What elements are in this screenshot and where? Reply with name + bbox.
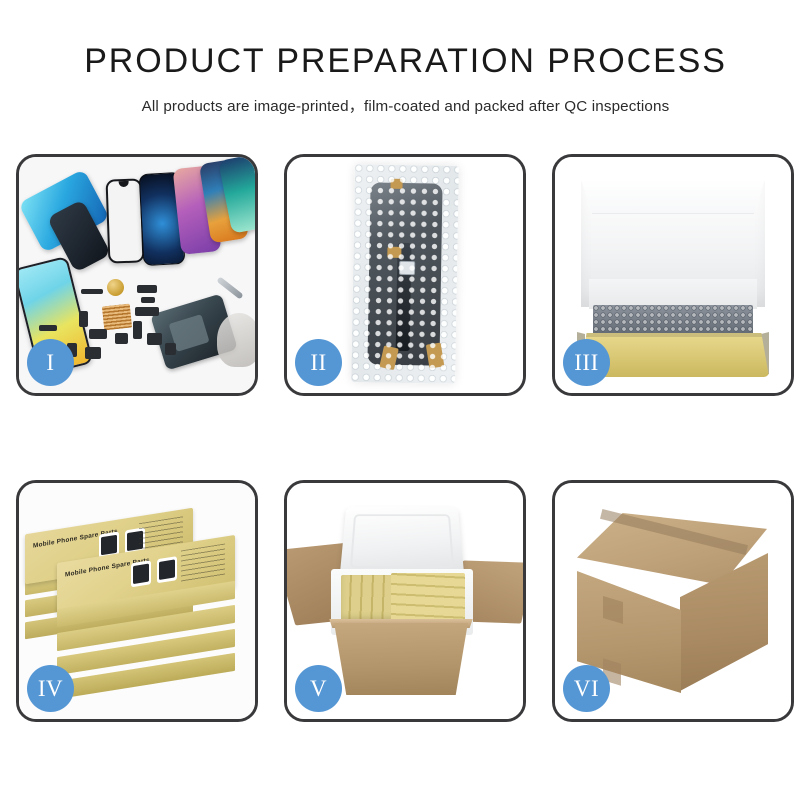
step-badge-5: V [295, 665, 342, 712]
page-title: PRODUCT PREPARATION PROCESS [0, 44, 811, 80]
gold-tab-bottom-left-icon [379, 345, 399, 370]
box-spec-text-front [181, 543, 225, 582]
step-badge-3: III [563, 339, 610, 386]
gold-component-icon [107, 279, 124, 296]
process-steps-grid: I II III [16, 154, 795, 722]
page-header: PRODUCT PREPARATION PROCESS All products… [0, 0, 811, 116]
step-badge-6: VI [563, 665, 610, 712]
part-module-icon [89, 329, 107, 339]
part-ribbon-icon [133, 321, 142, 339]
box-artwork-phone-3-icon [131, 560, 151, 587]
screen-flex-cable-icon [396, 243, 412, 351]
gold-tab-bottom-right-icon [426, 343, 445, 369]
process-step-panel-5[interactable]: V [284, 480, 526, 722]
carton-front-panel-icon [325, 623, 477, 695]
bubble-wrap-bag-icon [351, 164, 459, 384]
step-badge-1: I [27, 339, 74, 386]
copper-mesh-component-icon [102, 304, 132, 331]
step-badge-4: IV [27, 665, 74, 712]
part-gold-flex-icon [137, 285, 157, 293]
process-step-panel-4[interactable]: Mobile Phone Spare Parts Mobile Phone Sp… [16, 480, 258, 722]
part-gold-tab-icon [141, 297, 155, 303]
page-subtitle: All products are image-printed，film-coat… [0, 94, 811, 116]
part-small-board-icon [85, 347, 101, 359]
screen-chip-icon [399, 261, 415, 275]
gold-tab-top-icon [390, 179, 402, 189]
part-speaker-icon [147, 333, 162, 345]
part-camera-icon [115, 333, 128, 344]
process-step-panel-1[interactable]: I [16, 154, 258, 396]
part-strip-icon [81, 289, 103, 294]
process-step-panel-2[interactable]: II [284, 154, 526, 396]
part-battery-icon [165, 343, 176, 355]
hand-icon [217, 313, 255, 367]
box-artwork-phone-4-icon [157, 556, 177, 583]
part-flex-cable-icon [135, 307, 159, 316]
step-badge-2: II [295, 339, 342, 386]
part-copper-strip-icon [39, 325, 57, 331]
packed-gold-boxes-right-icon [391, 573, 465, 623]
gold-tab-mid-icon [387, 247, 401, 258]
process-step-panel-6[interactable]: VI [552, 480, 794, 722]
process-step-panel-3[interactable]: III [552, 154, 794, 396]
part-connector-icon [79, 311, 88, 327]
